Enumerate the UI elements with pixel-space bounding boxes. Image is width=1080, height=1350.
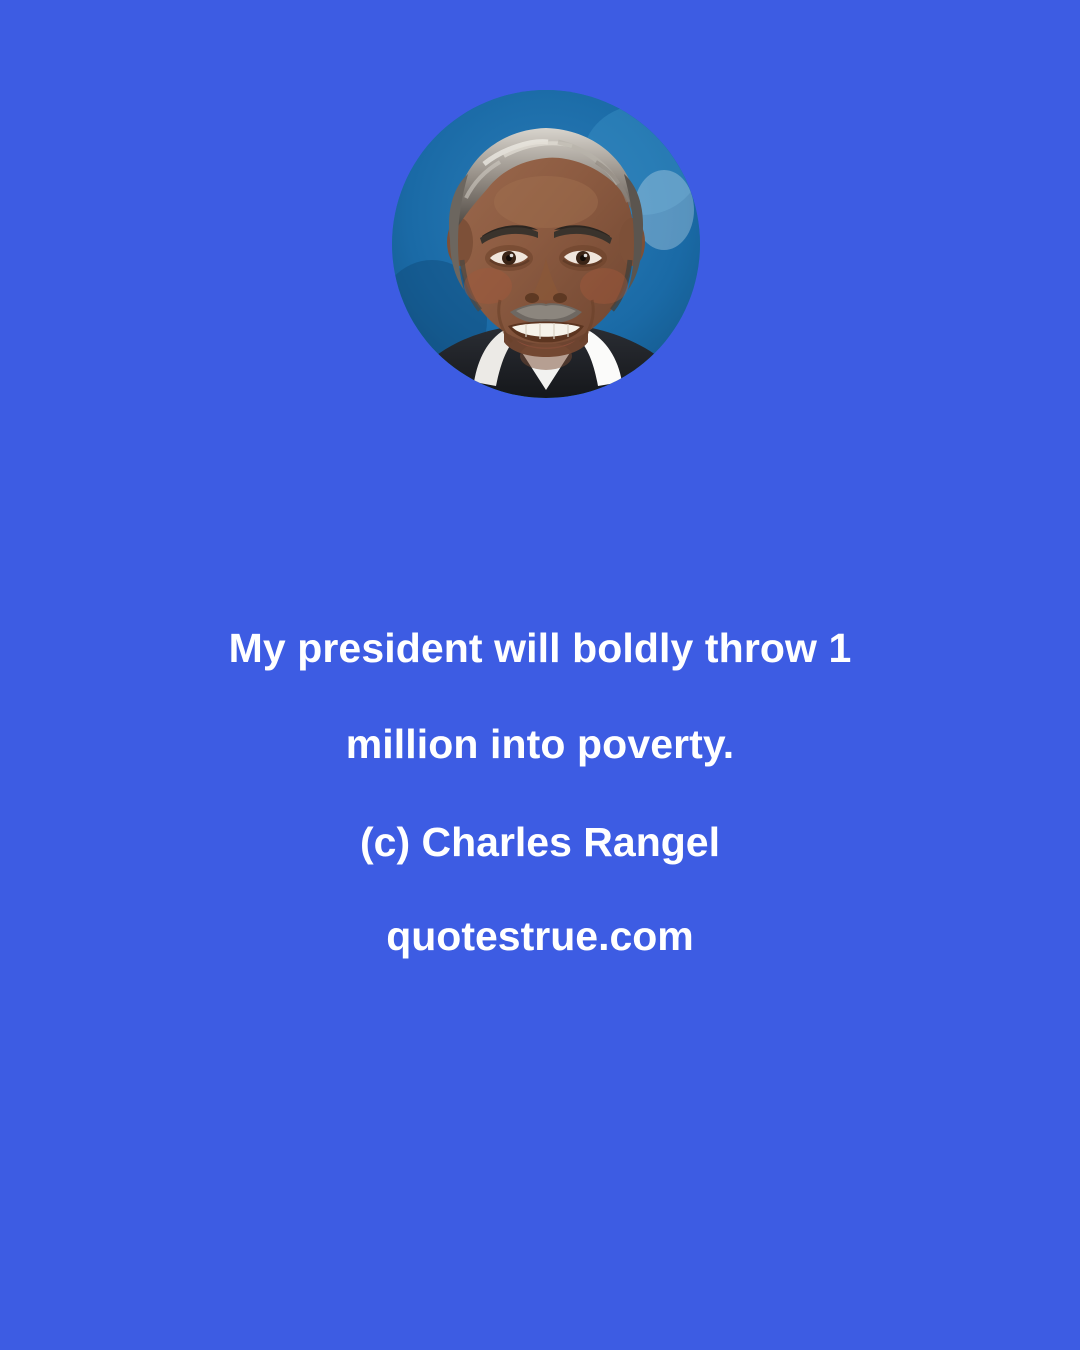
quote-text: My president will boldly throw 1 million…	[140, 600, 940, 792]
quote-card: My president will boldly throw 1 million…	[0, 0, 1080, 1350]
portrait-image	[392, 90, 700, 398]
avatar	[392, 90, 700, 398]
website-label: quotestrue.com	[90, 908, 990, 964]
quote-author: (c) Charles Rangel	[90, 814, 990, 870]
quote-text-block: My president will boldly throw 1 million…	[0, 600, 1080, 964]
quote-line-1: My president will boldly throw 1	[229, 625, 852, 671]
quote-line-2: million into poverty.	[346, 721, 735, 767]
